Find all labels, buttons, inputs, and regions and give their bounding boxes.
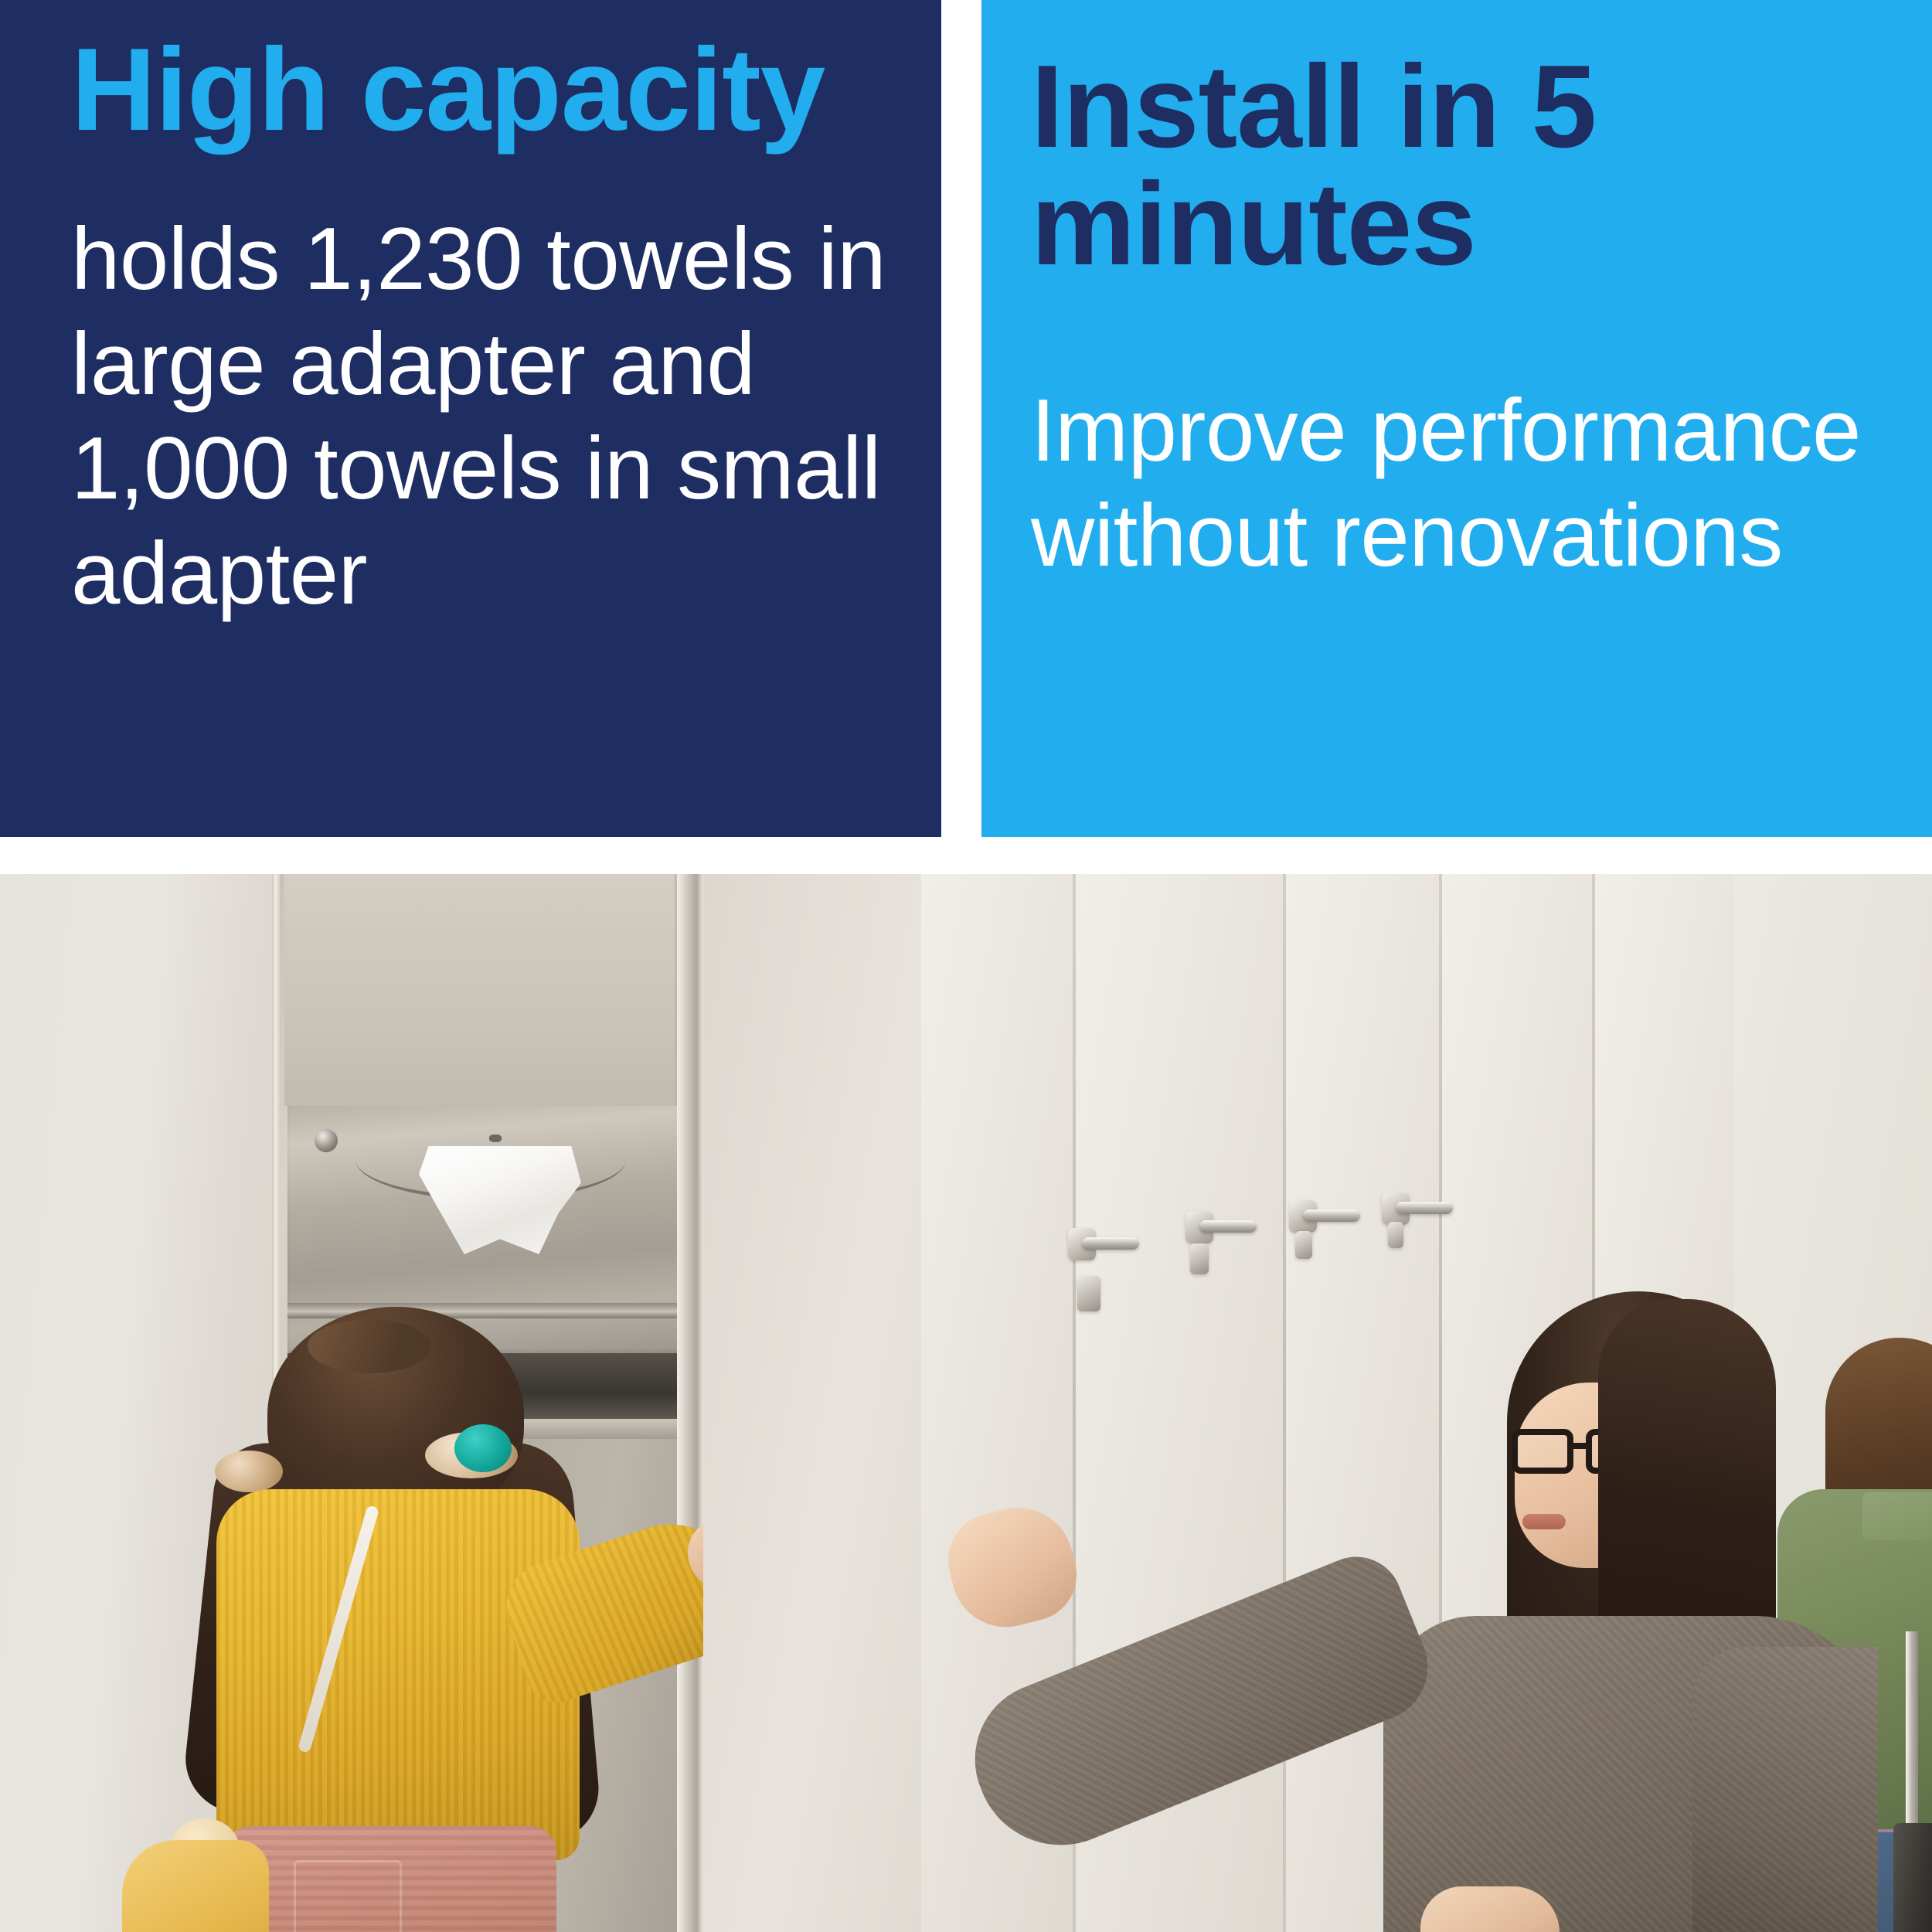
panel-install-in-5-minutes: Install in 5 minutes Improve performance… (981, 0, 1932, 837)
woman-figure (1291, 1291, 1878, 1932)
panel-high-capacity: High capacity holds 1,230 towels in larg… (0, 0, 941, 837)
child-figure (116, 1307, 672, 1932)
stall-door-lock-3[interactable] (1295, 1231, 1312, 1259)
eyeglass-bridge (1572, 1443, 1589, 1449)
plush-toy (122, 1840, 269, 1932)
stall-door-lock-1[interactable] (1077, 1276, 1100, 1311)
handle-bar-1 (1082, 1237, 1139, 1250)
panel-install-headline: Install in 5 minutes (1031, 48, 1603, 283)
dispenser-indicator-light (489, 1134, 502, 1142)
feature-panels-row: High capacity holds 1,230 towels in larg… (0, 0, 1932, 837)
dispenser-lock-keyhole (315, 1129, 338, 1152)
child-pants-pocket (294, 1860, 402, 1932)
child-hair-part (308, 1319, 431, 1373)
panel-install-in-5-minutes-content: Install in 5 minutes Improve performance… (981, 0, 1932, 837)
panel-high-capacity-headline: High capacity (71, 31, 906, 148)
panel-high-capacity-body: holds 1,230 towels in large adapter and … (71, 207, 913, 627)
woman-cardigan-right-flap (1692, 1647, 1878, 1932)
feature-panel-graphic: High capacity holds 1,230 towels in larg… (0, 0, 1932, 1932)
eyeglass-lens-left (1512, 1429, 1573, 1474)
child-hair-tie-left (215, 1451, 283, 1492)
cabinet-upper-panel (284, 874, 675, 1106)
luggage (1893, 1631, 1932, 1932)
side-wall (703, 874, 921, 1932)
panel-high-capacity-content: High capacity holds 1,230 towels in larg… (0, 0, 941, 837)
cabinet-chrome-edge (677, 874, 703, 1932)
photo-woman-at-restroom-lockers (703, 874, 1932, 1932)
luggage-body (1893, 1823, 1932, 1932)
luggage-handle-pole (1906, 1631, 1918, 1825)
handle-bar-4 (1396, 1202, 1453, 1214)
woman-lips (1522, 1514, 1566, 1529)
photo-child-at-towel-dispenser (0, 874, 703, 1932)
child-hair-tie-teal-pom (454, 1424, 512, 1472)
handle-bar-3 (1303, 1209, 1360, 1222)
photo-strip (0, 874, 1932, 1932)
handle-bar-2 (1199, 1220, 1257, 1233)
stall-door-lock-2[interactable] (1190, 1243, 1209, 1274)
panel-install-body: Improve performance without renovations (1031, 379, 1932, 588)
stall-door-lock-4[interactable] (1388, 1222, 1403, 1248)
